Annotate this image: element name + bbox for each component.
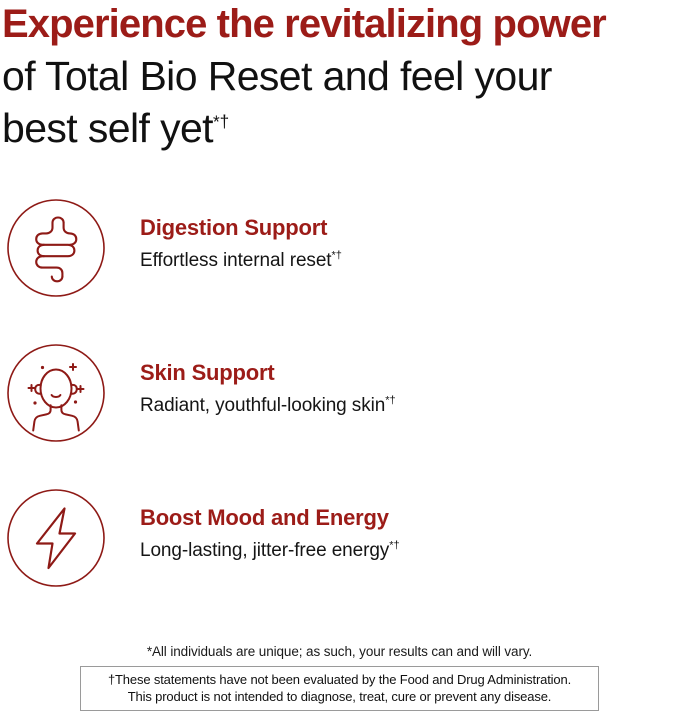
intestine-icon	[4, 196, 108, 300]
results-vary-note: *All individuals are unique; as such, yo…	[0, 643, 679, 660]
benefit-title: Skin Support	[140, 360, 679, 386]
page-title: Experience the revitalizing power of Tot…	[0, 0, 679, 154]
list-item: Boost Mood and Energy Long-lasting, jitt…	[0, 482, 679, 627]
benefit-description: Radiant, youthful-looking skin*†	[140, 395, 679, 417]
headline-line-1: Experience the revitalizing power	[2, 0, 677, 50]
benefit-description: Long-lasting, jitter-free energy*†	[140, 540, 679, 562]
fda-disclaimer-box: †These statements have not been evaluate…	[80, 666, 599, 711]
benefit-text-block: Boost Mood and Energy Long-lasting, jitt…	[108, 482, 679, 562]
fda-disclaimer-line-1: †These statements have not been evaluate…	[87, 671, 592, 688]
fda-disclaimer-line-2: This product is not intended to diagnose…	[87, 688, 592, 705]
promo-benefits-panel: Experience the revitalizing power of Tot…	[0, 0, 679, 711]
headline-line-3-text: best self yet	[2, 105, 213, 151]
benefit-superscript: *†	[385, 395, 395, 407]
benefit-title: Boost Mood and Energy	[140, 505, 679, 531]
list-item: Skin Support Radiant, youthful-looking s…	[0, 337, 679, 482]
lightning-bolt-icon	[4, 486, 108, 590]
benefit-title: Digestion Support	[140, 215, 679, 241]
benefit-superscript: *†	[331, 250, 341, 262]
headline-line-2: of Total Bio Reset and feel your	[2, 50, 677, 102]
benefit-text-block: Digestion Support Effortless internal re…	[108, 192, 679, 272]
benefit-list: Digestion Support Effortless internal re…	[0, 192, 679, 627]
benefit-description-text: Long-lasting, jitter-free energy	[140, 540, 389, 561]
headline-superscript: *†	[213, 111, 229, 131]
benefit-description: Effortless internal reset*†	[140, 250, 679, 272]
glowing-face-icon	[4, 341, 108, 445]
headline-line-3: best self yet*†	[2, 102, 677, 154]
benefit-superscript: *†	[389, 540, 399, 552]
list-item: Digestion Support Effortless internal re…	[0, 192, 679, 337]
benefit-description-text: Radiant, youthful-looking skin	[140, 395, 385, 416]
benefit-description-text: Effortless internal reset	[140, 250, 331, 271]
footnotes: *All individuals are unique; as such, yo…	[0, 643, 679, 711]
benefit-text-block: Skin Support Radiant, youthful-looking s…	[108, 337, 679, 417]
